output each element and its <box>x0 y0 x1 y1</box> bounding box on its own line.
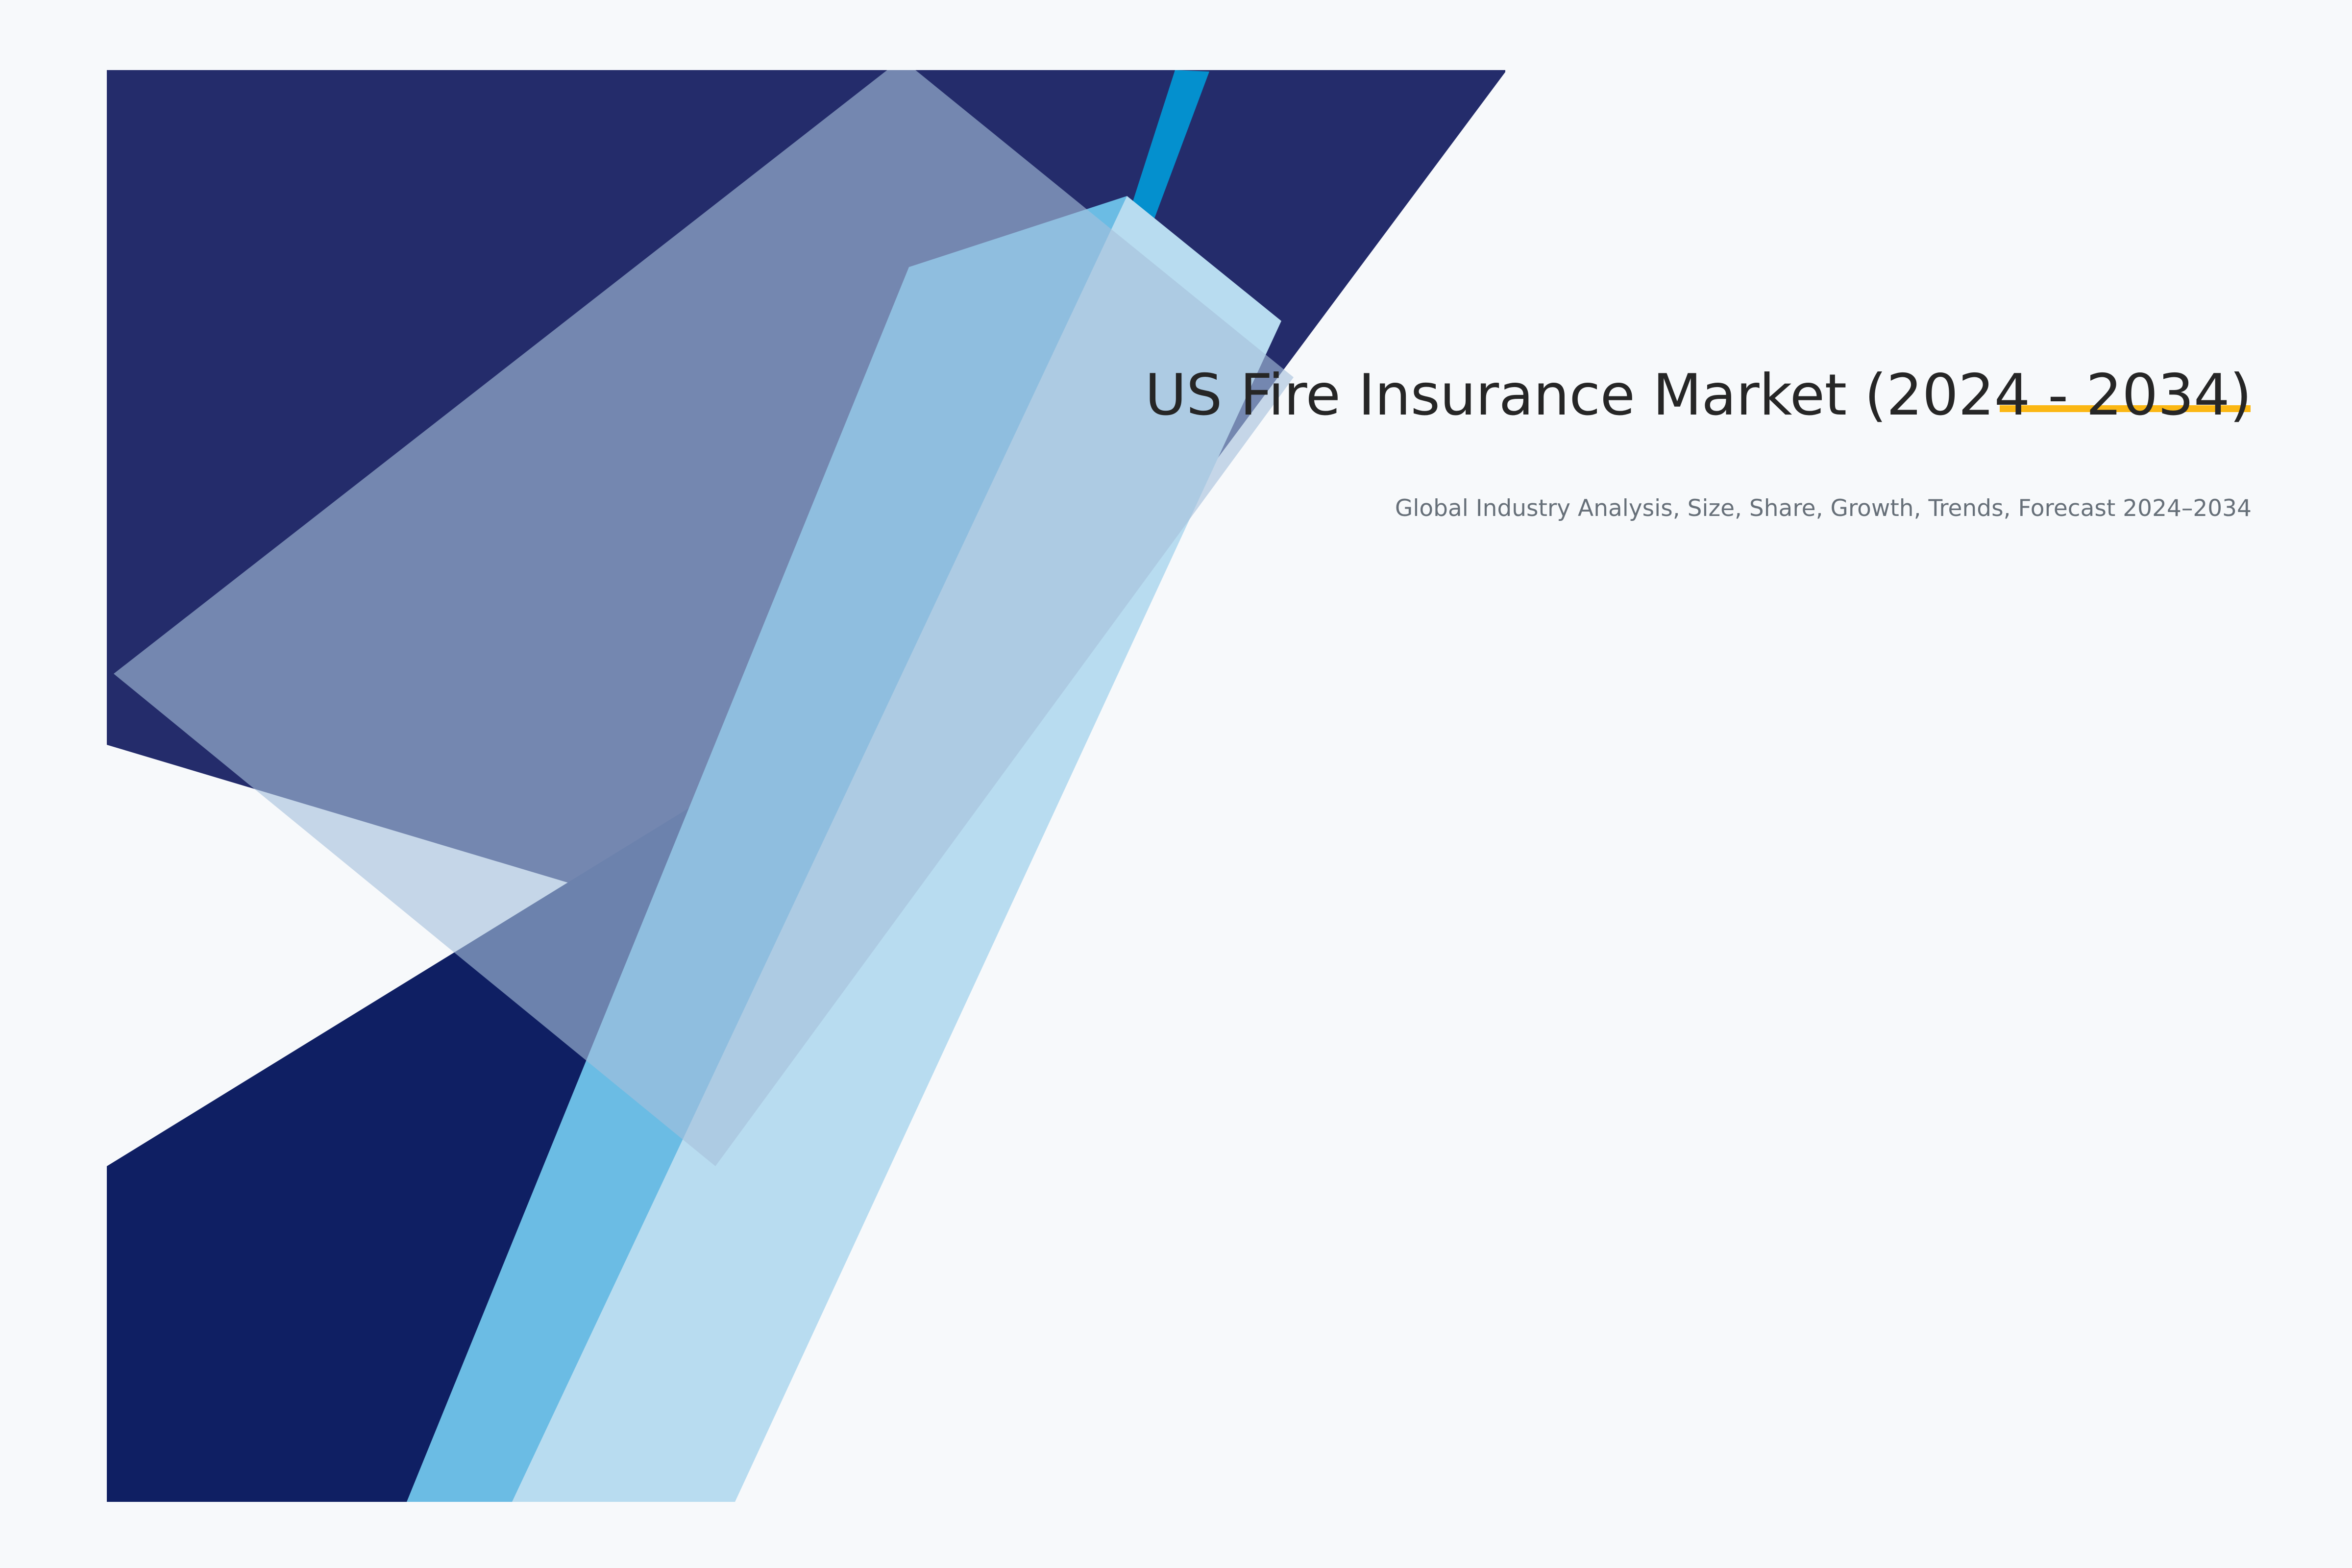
cover-text-block: US Fire Insurance Market (2024 - 2034) G… <box>1004 363 2252 523</box>
page-subtitle: Global Industry Analysis, Size, Share, G… <box>1004 429 2252 523</box>
slide-canvas: US Fire Insurance Market (2024 - 2034) G… <box>0 0 2352 1568</box>
page-title: US Fire Insurance Market (2024 - 2034) <box>1004 363 2252 429</box>
title-wrapper: US Fire Insurance Market (2024 - 2034) <box>1004 363 2252 429</box>
abstract-geometric-artwork <box>0 0 2352 1568</box>
